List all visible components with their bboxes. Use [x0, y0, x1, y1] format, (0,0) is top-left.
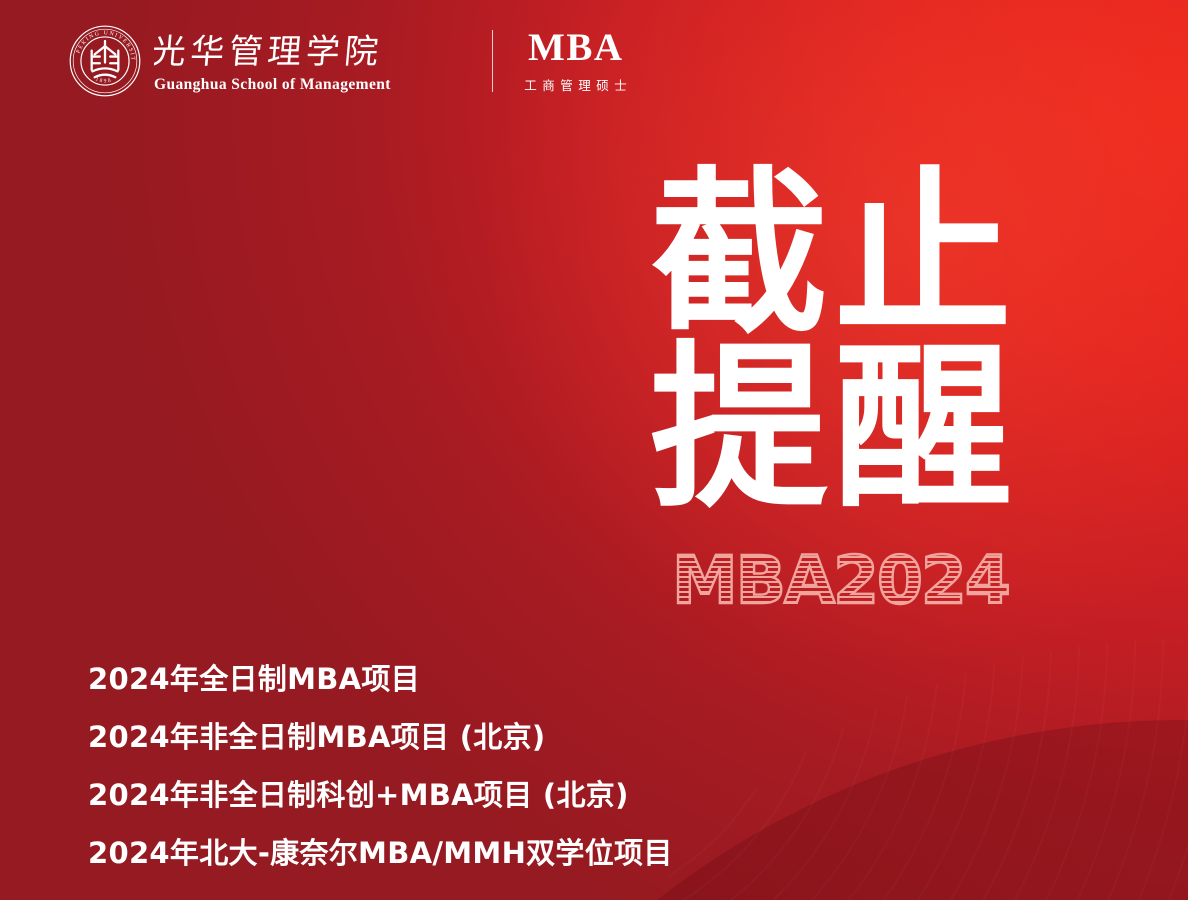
- poster-canvas: PEKING UNIVERSITY 1898 光华管理学院 Guanghua S…: [0, 0, 1188, 900]
- program-item: 2024年非全日制科创+MBA项目 (北京): [88, 766, 888, 824]
- svg-text:光华管理学院: 光华管理学院: [154, 31, 385, 70]
- retro-mba2024-icon: MBA2024 MBA2024: [672, 543, 1052, 615]
- brand-header: PEKING UNIVERSITY 1898 光华管理学院 Guanghua S…: [68, 18, 632, 104]
- right-edge-margin: [1188, 0, 1200, 900]
- headline-line-2: 提醒: [650, 342, 1070, 516]
- header-divider: [492, 30, 493, 92]
- headline-block: 截止 提醒: [650, 168, 1070, 517]
- mba-chinese-text: 工商管理硕士: [519, 75, 632, 94]
- program-item: 2024年全日制MBA项目: [88, 650, 888, 708]
- retro-stripe-text: MBA2024: [672, 543, 1009, 615]
- guanghua-chinese-name-icon: 光华管理学院: [154, 29, 468, 73]
- program-list: 2024年全日制MBA项目 2024年非全日制MBA项目 (北京) 2024年非…: [88, 650, 888, 882]
- retro-mba2024-wordmark: MBA2024 MBA2024: [672, 543, 1052, 615]
- program-item: 2024年北大-康奈尔MBA/MMH双学位项目: [88, 824, 888, 882]
- guanghua-english-name: Guanghua School of Management: [154, 76, 468, 94]
- headline-line-1: 截止: [650, 168, 1070, 342]
- peking-university-seal-icon: PEKING UNIVERSITY 1898: [68, 24, 142, 98]
- guanghua-wordmark: 光华管理学院 Guanghua School of Management: [154, 29, 468, 94]
- mba-latin-text: MBA: [528, 28, 624, 67]
- mba-lockup: MBA 工商管理硕士: [519, 28, 632, 94]
- program-item: 2024年非全日制MBA项目 (北京): [88, 708, 888, 766]
